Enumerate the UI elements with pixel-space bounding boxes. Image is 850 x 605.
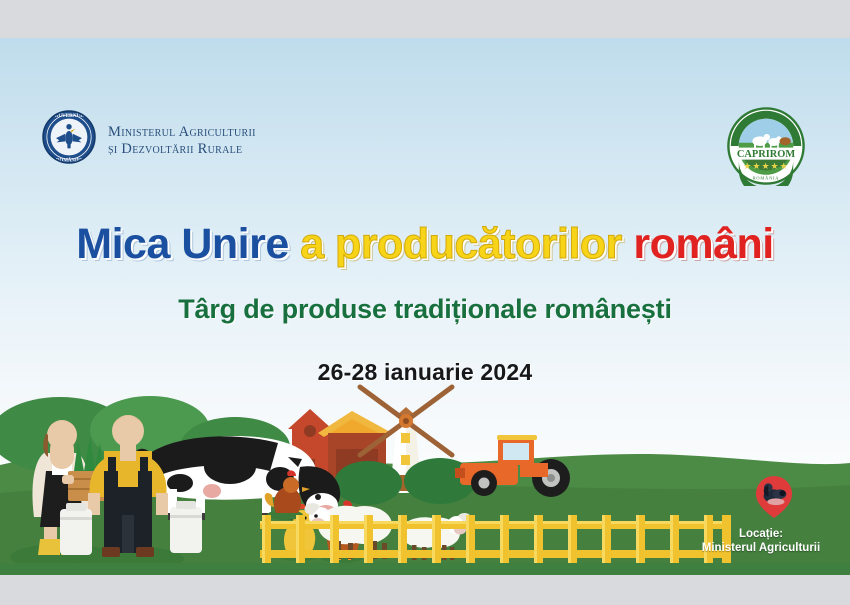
location-pin-icon [755, 475, 793, 519]
svg-text:★★★★★: ★★★★★ [743, 161, 788, 171]
event-poster: GUVERNUL ROMÂNIEI Ministerul Agriculturi… [0, 38, 850, 575]
poster-subtitle: Târg de produse tradiționale românești [0, 294, 850, 325]
poster-header: GUVERNUL ROMÂNIEI Ministerul Agriculturi… [0, 38, 850, 148]
title-part-1: Mica Unire [76, 220, 300, 268]
poster-title: Mica Unire a producătorilor români [0, 220, 850, 269]
location-text: Locație: Ministerul Agriculturii [686, 527, 836, 555]
ministry-name-text: Ministerul Agriculturii și Dezvoltării R… [108, 124, 256, 158]
caprirom-cooperative-logo-icon: CAPRIROM ★★★★★ ROMÂNIA [726, 106, 806, 186]
caprirom-logo-label: CAPRIROM [737, 149, 795, 160]
romanian-government-seal-icon: GUVERNUL ROMÂNIEI [42, 110, 96, 164]
svg-text:ROMÂNIA: ROMÂNIA [753, 176, 780, 181]
title-part-2: a producătorilor [300, 220, 633, 268]
title-part-3: români [633, 220, 773, 268]
